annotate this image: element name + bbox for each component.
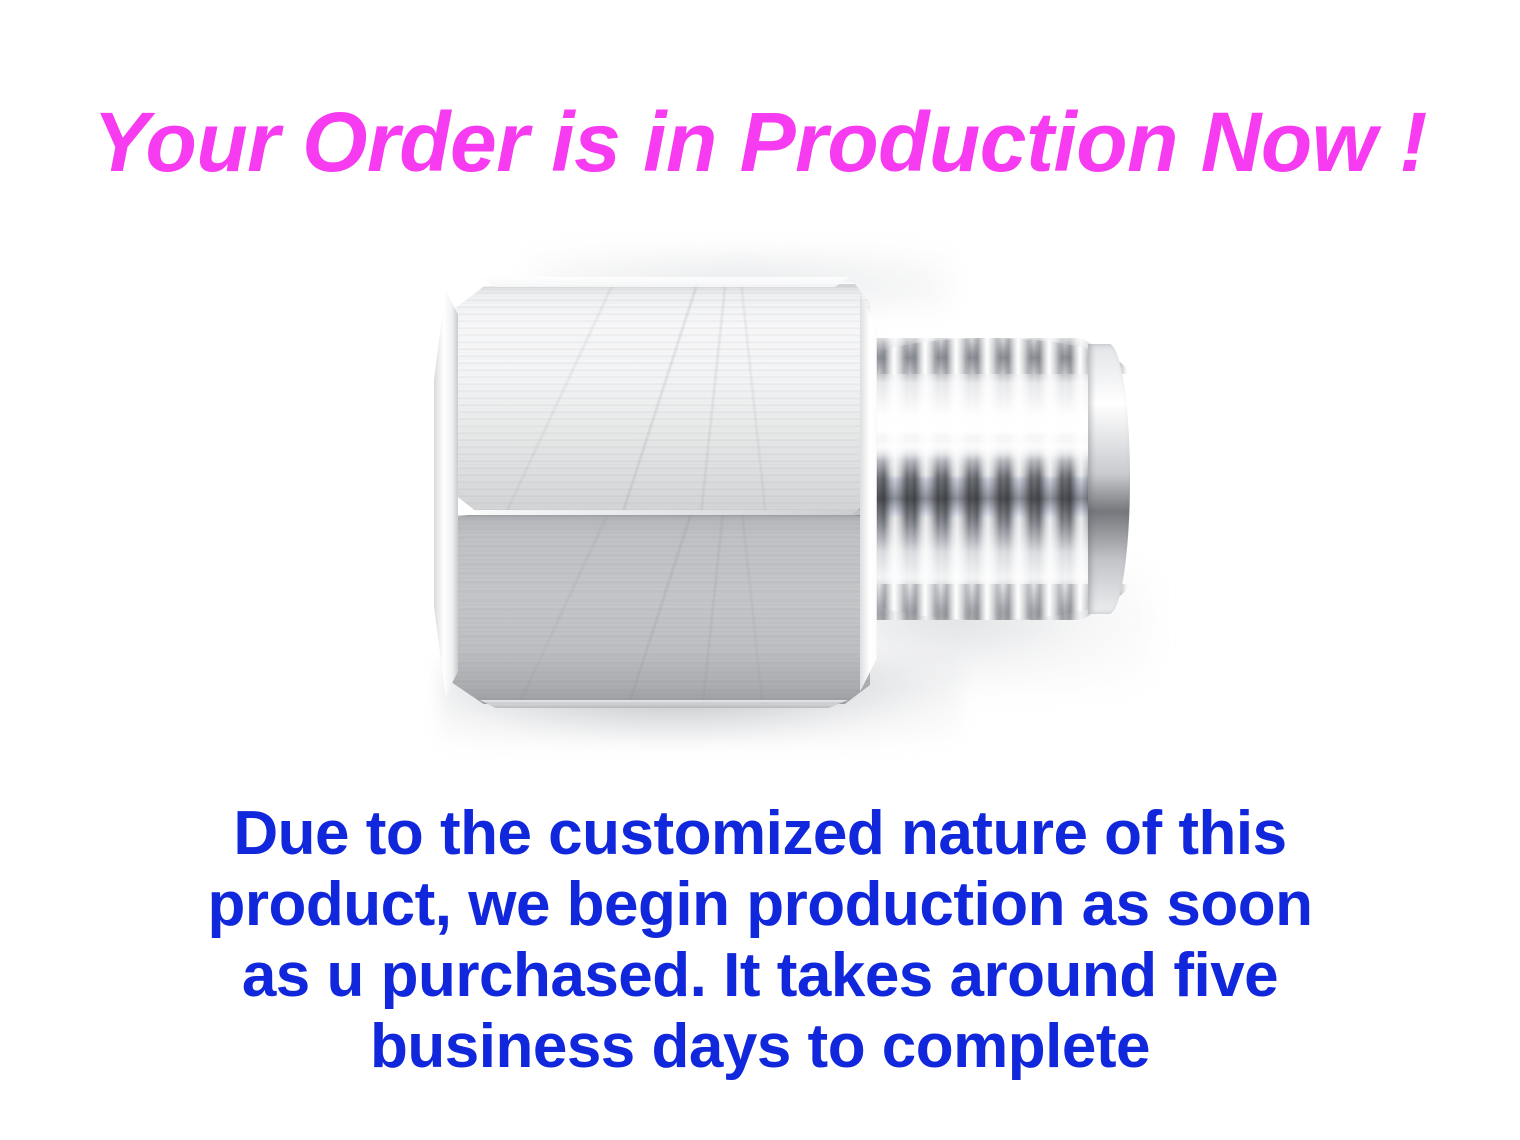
machining-scratches-upper [450,282,870,514]
notice-line-4: business days to complete [0,1011,1520,1082]
threaded-nipple [848,338,1128,620]
product-photo [380,240,1200,780]
page-title: Your Order is in Production Now ! [0,96,1520,188]
thread-specular-highlight [850,434,1114,460]
hex-face-divider-edge [456,510,866,515]
hex-face-lower [450,514,870,704]
hex-left-chamfer [434,290,458,696]
notice-line-1: Due to the customized nature of this [0,798,1520,869]
hex-face-upper [450,282,870,514]
thread-end-face [1088,344,1130,614]
promo-image-canvas: Your Order is in Production Now ! [0,0,1520,1140]
production-notice: Due to the customized nature of this pro… [0,798,1520,1082]
notice-line-2: product, we begin production as soon [0,869,1520,940]
thread-cylinder [848,338,1128,620]
hex-body [450,282,870,704]
hex-bottom-edge-highlight [468,700,860,708]
notice-line-3: as u purchased. It takes around five [0,940,1520,1011]
machining-scratches-lower [450,514,870,704]
hex-top-edge-highlight [472,277,858,287]
